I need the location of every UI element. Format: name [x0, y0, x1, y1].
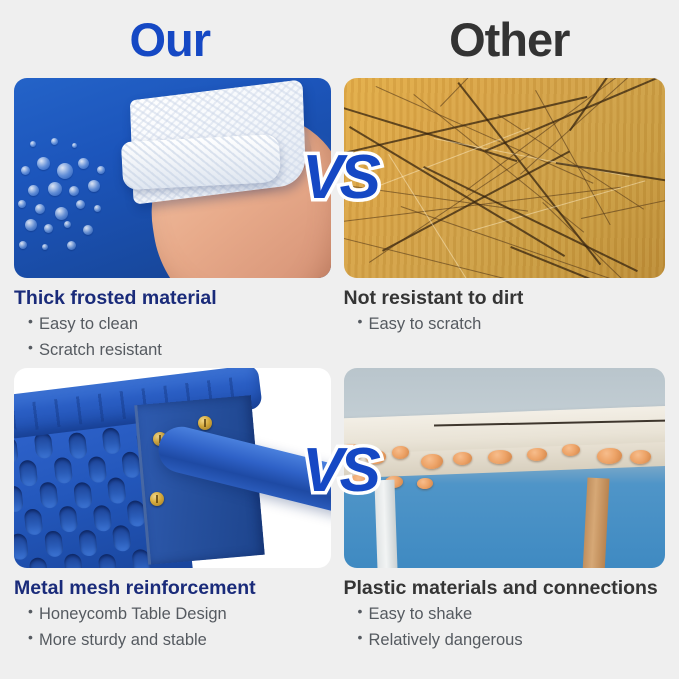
- comparison-cell-other-2: Plastic materials and connections Easy t…: [340, 368, 679, 679]
- list-item: Easy to scratch: [358, 311, 666, 337]
- cleaning-cloth-fold: [120, 134, 281, 190]
- list-item: Easy to clean: [28, 311, 331, 337]
- comparison-cell-ours-1: Thick frosted material Easy to clean Scr…: [0, 78, 340, 368]
- image-damaged-table-edge: [344, 368, 666, 568]
- page-title-ours: Our: [129, 16, 210, 63]
- table-leg-wooden: [583, 477, 610, 568]
- comparison-cell-other-1: Not resistant to dirt Easy to scratch: [340, 78, 679, 368]
- image-honeycomb-table-frame: [14, 368, 331, 568]
- comparison-cell-ours-2: Metal mesh reinforcement Honeycomb Table…: [0, 368, 340, 679]
- image-blue-frosted-mat: [14, 78, 331, 278]
- header-cell-ours: Our: [0, 16, 340, 63]
- comparison-row-1: Thick frosted material Easy to clean Scr…: [0, 78, 679, 368]
- feature-title: Metal mesh reinforcement: [14, 577, 331, 599]
- broken-material-chunk: [421, 454, 443, 469]
- feature-title: Not resistant to dirt: [344, 287, 666, 309]
- vs-badge-top: VS: [302, 147, 377, 209]
- feature-title: Plastic materials and connections: [344, 577, 666, 599]
- broken-material-chunk: [453, 452, 472, 465]
- list-item: Honeycomb Table Design: [28, 601, 331, 627]
- broken-material-chunk: [392, 446, 409, 459]
- broken-material-chunk: [630, 450, 651, 464]
- list-item: More sturdy and stable: [28, 627, 331, 653]
- column-headers: Our Other: [0, 0, 679, 78]
- broken-material-chunk: [417, 478, 433, 489]
- image-scratched-wood: [344, 78, 666, 278]
- comparison-infographic: Our Other: [0, 0, 679, 679]
- feature-text-ours-2: Metal mesh reinforcement Honeycomb Table…: [14, 568, 331, 654]
- screw-icon: [198, 416, 212, 430]
- broken-material-chunk: [527, 448, 547, 461]
- feature-bullets: Easy to scratch: [344, 311, 666, 337]
- feature-bullets: Honeycomb Table Design More sturdy and s…: [14, 601, 331, 653]
- scratch-marks-group: [344, 78, 666, 278]
- list-item: Relatively dangerous: [358, 627, 666, 653]
- screw-icon: [150, 492, 164, 506]
- comparison-row-2: Metal mesh reinforcement Honeycomb Table…: [0, 368, 679, 679]
- feature-bullets: Easy to clean Scratch resistant: [14, 311, 331, 363]
- header-cell-other: Other: [340, 16, 679, 63]
- table-leg-white: [374, 480, 397, 568]
- feature-text-other-1: Not resistant to dirt Easy to scratch: [344, 278, 666, 337]
- feature-text-other-2: Plastic materials and connections Easy t…: [344, 568, 666, 654]
- list-item: Easy to shake: [358, 601, 666, 627]
- feature-bullets: Easy to shake Relatively dangerous: [344, 601, 666, 653]
- feature-title: Thick frosted material: [14, 287, 331, 309]
- list-item: Scratch resistant: [28, 337, 331, 363]
- vs-badge-bottom: VS: [302, 440, 377, 502]
- page-title-other: Other: [449, 16, 569, 63]
- feature-text-ours-1: Thick frosted material Easy to clean Scr…: [14, 278, 331, 364]
